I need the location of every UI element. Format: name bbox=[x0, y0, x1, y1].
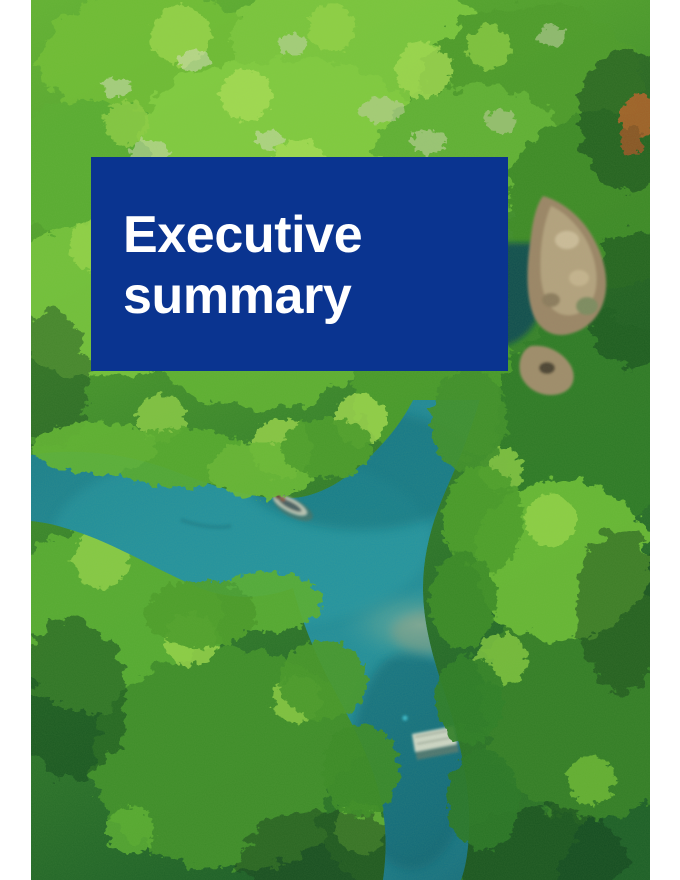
section-title-block: Executive summary bbox=[91, 157, 508, 371]
page-title: Executive summary bbox=[123, 205, 478, 327]
canopy-grain-overlay bbox=[31, 0, 650, 880]
report-cover-page: Executive summary bbox=[0, 0, 680, 880]
aerial-forest-river-illustration bbox=[31, 0, 650, 880]
cover-photo bbox=[31, 0, 650, 880]
